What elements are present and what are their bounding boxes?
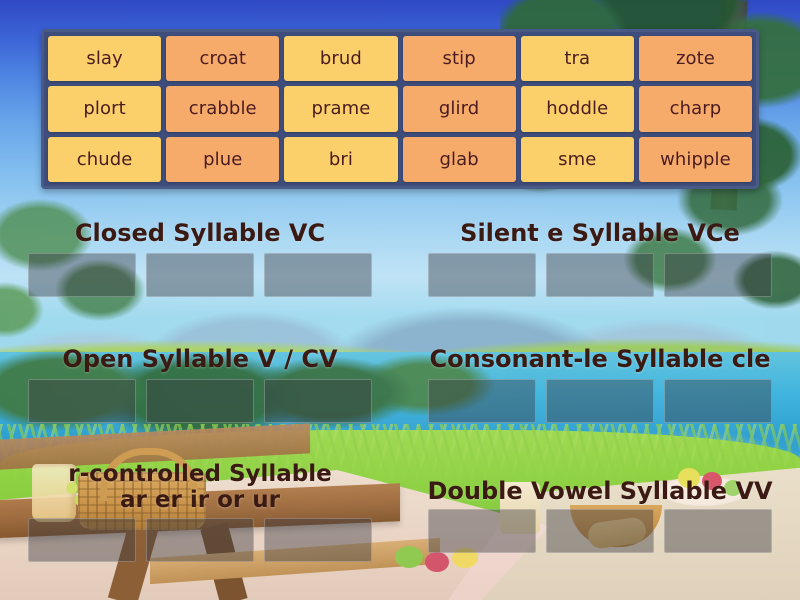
category-title: Double Vowel Syllable VV xyxy=(400,440,800,505)
word-tile[interactable]: whipple xyxy=(639,137,752,182)
word-tile[interactable]: tra xyxy=(521,36,634,81)
word-tile[interactable]: croat xyxy=(166,36,279,81)
category-dropzone[interactable] xyxy=(264,253,372,297)
word-tile[interactable]: brud xyxy=(284,36,397,81)
word-tile[interactable]: stip xyxy=(403,36,516,81)
category-dropzone[interactable] xyxy=(146,518,254,562)
category-dropzone[interactable] xyxy=(428,253,536,297)
category-row: Closed Syllable VCSilent e Syllable VCe xyxy=(0,200,800,320)
word-tile[interactable]: plue xyxy=(166,137,279,182)
word-tile[interactable]: plort xyxy=(48,86,161,131)
category-column: Silent e Syllable VCe xyxy=(400,200,800,320)
word-tile[interactable]: prame xyxy=(284,86,397,131)
category-title: Open Syllable V / CV xyxy=(0,320,400,373)
category-column: Consonant-le Syllable cle xyxy=(400,320,800,440)
category-column: Double Vowel Syllable VV xyxy=(400,440,800,560)
category-row: Open Syllable V / CVConsonant-le Syllabl… xyxy=(0,320,800,440)
category-column: Closed Syllable VC xyxy=(0,200,400,320)
word-bank-row: chudepluebriglabsmewhipple xyxy=(48,137,752,182)
category-dropzone[interactable] xyxy=(664,509,772,553)
category-dropzone[interactable] xyxy=(428,379,536,423)
word-tile[interactable]: glird xyxy=(403,86,516,131)
word-tile[interactable]: charp xyxy=(639,86,752,131)
category-dropzone-group xyxy=(0,253,400,297)
category-dropzone[interactable] xyxy=(428,509,536,553)
category-dropzone[interactable] xyxy=(664,253,772,297)
category-dropzone-group xyxy=(400,253,800,297)
category-dropzone[interactable] xyxy=(28,518,136,562)
category-title: Consonant-le Syllable cle xyxy=(400,320,800,373)
category-dropzone[interactable] xyxy=(546,509,654,553)
category-grid: Closed Syllable VCSilent e Syllable VCeO… xyxy=(0,200,800,600)
category-dropzone[interactable] xyxy=(264,518,372,562)
category-title: r-controlled Syllable ar er ir or ur xyxy=(0,440,400,514)
category-dropzone-group xyxy=(400,379,800,423)
activity-stage: slaycroatbrudstiptrazoteplortcrabblepram… xyxy=(0,0,800,600)
category-title: Silent e Syllable VCe xyxy=(400,200,800,247)
word-bank-row: plortcrabbleprameglirdhoddlecharp xyxy=(48,86,752,131)
word-tile[interactable]: crabble xyxy=(166,86,279,131)
category-dropzone[interactable] xyxy=(28,379,136,423)
category-column: r-controlled Syllable ar er ir or ur xyxy=(0,440,400,560)
category-dropzone[interactable] xyxy=(664,379,772,423)
word-tile[interactable]: slay xyxy=(48,36,161,81)
category-column: Open Syllable V / CV xyxy=(0,320,400,440)
category-dropzone-group xyxy=(0,518,400,562)
word-tile[interactable]: sme xyxy=(521,137,634,182)
category-dropzone[interactable] xyxy=(146,253,254,297)
category-title: Closed Syllable VC xyxy=(0,200,400,247)
category-dropzone-group xyxy=(400,509,800,553)
word-tile[interactable]: glab xyxy=(403,137,516,182)
word-bank-panel: slaycroatbrudstiptrazoteplortcrabblepram… xyxy=(41,29,759,189)
word-tile[interactable]: chude xyxy=(48,137,161,182)
category-dropzone[interactable] xyxy=(146,379,254,423)
category-row: r-controlled Syllable ar er ir or urDoub… xyxy=(0,440,800,560)
category-dropzone[interactable] xyxy=(546,253,654,297)
word-tile[interactable]: zote xyxy=(639,36,752,81)
category-dropzone[interactable] xyxy=(28,253,136,297)
word-tile[interactable]: hoddle xyxy=(521,86,634,131)
word-tile[interactable]: bri xyxy=(284,137,397,182)
word-bank-row: slaycroatbrudstiptrazote xyxy=(48,36,752,81)
category-dropzone[interactable] xyxy=(264,379,372,423)
category-dropzone[interactable] xyxy=(546,379,654,423)
category-dropzone-group xyxy=(0,379,400,423)
